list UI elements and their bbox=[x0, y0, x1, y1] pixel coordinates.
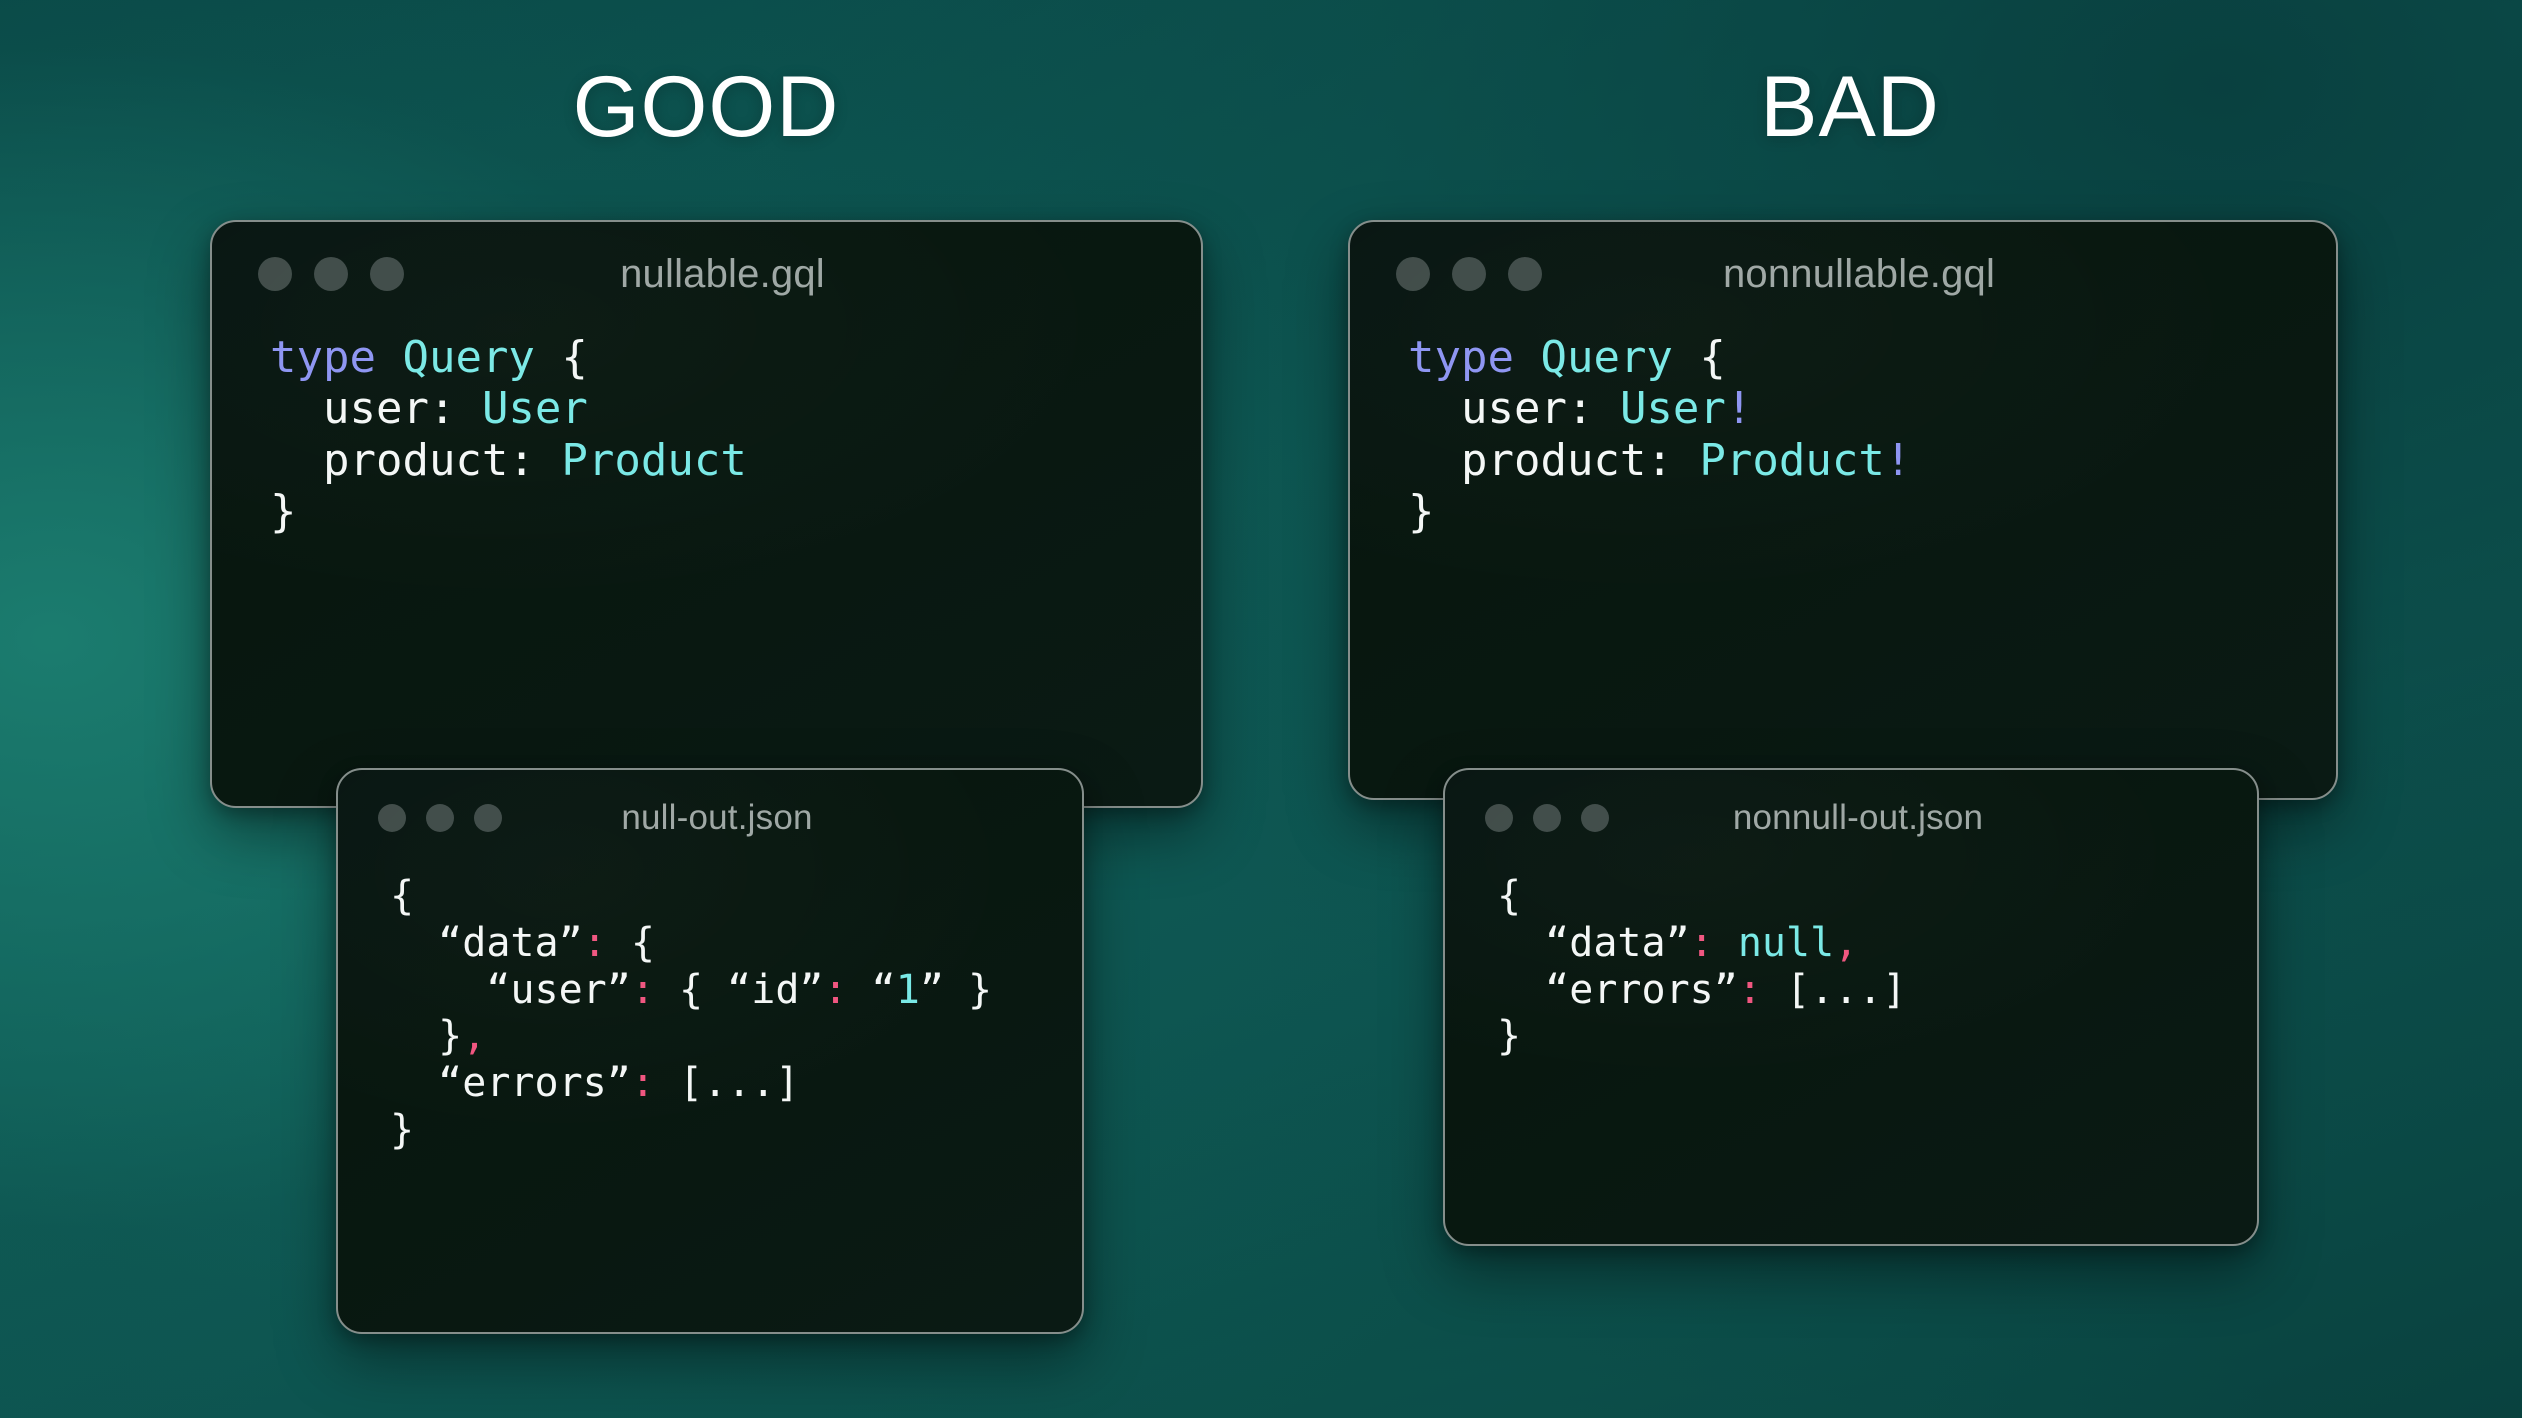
code-token-punc: { bbox=[535, 332, 588, 383]
window-filename: nonnull-out.json bbox=[1609, 798, 2107, 838]
column-heading-bad: BAD bbox=[1760, 64, 1940, 150]
code-token-bang: ! bbox=[1885, 435, 1912, 486]
code-line: “user”: { “id”: “1” } bbox=[390, 966, 1082, 1013]
code-line: { bbox=[390, 872, 1082, 919]
code-window-nullable-gql[interactable]: nullable.gql type Query { user: User pro… bbox=[210, 220, 1203, 808]
code-line: } bbox=[270, 486, 1201, 537]
code-token-str: “user” bbox=[390, 967, 631, 1013]
code-line: “errors”: [...] bbox=[390, 1059, 1082, 1106]
code-line: product: Product! bbox=[1408, 435, 2336, 486]
code-token-colon: : bbox=[824, 967, 848, 1013]
code-line: { bbox=[1497, 872, 2257, 919]
code-token-punc: [...] bbox=[655, 1060, 800, 1106]
maximize-dot-icon[interactable] bbox=[1508, 257, 1542, 291]
code-token-colon: : bbox=[1690, 920, 1714, 966]
code-token-punc: [...] bbox=[1762, 967, 1907, 1013]
code-token-plain bbox=[1514, 332, 1541, 383]
code-token-punc: { bbox=[1673, 332, 1726, 383]
code-token-type: Query bbox=[1540, 332, 1672, 383]
minimize-dot-icon[interactable] bbox=[314, 257, 348, 291]
code-window-nonnullable-gql[interactable]: nonnullable.gql type Query { user: User!… bbox=[1348, 220, 2338, 800]
code-content: type Query { user: User product: Product… bbox=[212, 326, 1201, 538]
window-filename: nonnullable.gql bbox=[1542, 252, 2176, 297]
code-line: “errors”: [...] bbox=[1497, 966, 2257, 1013]
code-window-nonnull-out-json[interactable]: nonnull-out.json { “data”: null, “errors… bbox=[1443, 768, 2259, 1246]
window-titlebar: null-out.json bbox=[338, 770, 1082, 866]
code-token-colon: : bbox=[1738, 967, 1762, 1013]
code-token-plain: : bbox=[429, 383, 482, 434]
close-dot-icon[interactable] bbox=[258, 257, 292, 291]
code-token-type: Query bbox=[402, 332, 534, 383]
code-line: “data”: { bbox=[390, 919, 1082, 966]
code-token-str: “data” bbox=[390, 920, 583, 966]
code-line: user: User bbox=[270, 383, 1201, 434]
code-content: { “data”: null, “errors”: [...]} bbox=[1445, 866, 2257, 1059]
code-token-bang: ! bbox=[1726, 383, 1753, 434]
code-token-punc: { bbox=[1497, 873, 1521, 919]
code-line: type Query { bbox=[270, 332, 1201, 383]
code-token-type: User bbox=[1620, 383, 1726, 434]
code-token-colon: : bbox=[631, 967, 655, 1013]
code-token-colon: : bbox=[631, 1060, 655, 1106]
traffic-lights bbox=[1485, 804, 1609, 832]
code-token-type: Product bbox=[561, 435, 746, 486]
code-token-colon: : bbox=[583, 920, 607, 966]
code-line: “data”: null, bbox=[1497, 919, 2257, 966]
code-token-plain: : bbox=[508, 435, 561, 486]
code-content: type Query { user: User! product: Produc… bbox=[1350, 326, 2336, 538]
code-token-kw: type bbox=[270, 332, 376, 383]
window-filename: null-out.json bbox=[502, 798, 932, 838]
close-dot-icon[interactable] bbox=[378, 804, 406, 832]
code-token-type: Product bbox=[1699, 435, 1884, 486]
code-token-str: “errors” bbox=[1497, 967, 1738, 1013]
code-token-val: 1 bbox=[896, 967, 920, 1013]
code-line: } bbox=[1408, 486, 2336, 537]
code-token-punc: ” } bbox=[920, 967, 992, 1013]
code-token-punc: } bbox=[390, 1107, 414, 1153]
code-token-punc: } bbox=[390, 1013, 462, 1059]
minimize-dot-icon[interactable] bbox=[1452, 257, 1486, 291]
window-titlebar: nullable.gql bbox=[212, 222, 1201, 326]
traffic-lights bbox=[258, 257, 404, 291]
code-token-str: “data” bbox=[1497, 920, 1690, 966]
window-titlebar: nonnull-out.json bbox=[1445, 770, 2257, 866]
close-dot-icon[interactable] bbox=[1396, 257, 1430, 291]
code-token-plain: product bbox=[270, 435, 508, 486]
code-token-punc: { bbox=[607, 920, 655, 966]
code-line: }, bbox=[390, 1012, 1082, 1059]
code-window-null-out-json[interactable]: null-out.json { “data”: { “user”: { “id”… bbox=[336, 768, 1084, 1334]
code-token-kw: type bbox=[1408, 332, 1514, 383]
close-dot-icon[interactable] bbox=[1485, 804, 1513, 832]
minimize-dot-icon[interactable] bbox=[426, 804, 454, 832]
code-token-plain: product bbox=[1408, 435, 1646, 486]
code-token-punc: { “id” bbox=[655, 967, 824, 1013]
code-token-plain: user bbox=[270, 383, 429, 434]
code-token-comma: , bbox=[1834, 920, 1858, 966]
code-line: product: Product bbox=[270, 435, 1201, 486]
code-token-plain bbox=[376, 332, 403, 383]
code-line: user: User! bbox=[1408, 383, 2336, 434]
code-token-plain: : bbox=[1646, 435, 1699, 486]
comparison-figure: GOOD BAD nullable.gql type Query { user:… bbox=[0, 0, 2522, 1418]
code-line: type Query { bbox=[1408, 332, 2336, 383]
code-token-plain: user bbox=[1408, 383, 1567, 434]
maximize-dot-icon[interactable] bbox=[474, 804, 502, 832]
column-heading-good: GOOD bbox=[573, 64, 840, 150]
code-token-punc: } bbox=[270, 486, 297, 537]
code-line: } bbox=[390, 1106, 1082, 1153]
code-token-comma: , bbox=[462, 1013, 486, 1059]
code-token-null: null bbox=[1738, 920, 1834, 966]
code-token-type: User bbox=[482, 383, 588, 434]
code-token-punc: } bbox=[1408, 486, 1435, 537]
code-token-str: “errors” bbox=[390, 1060, 631, 1106]
maximize-dot-icon[interactable] bbox=[1581, 804, 1609, 832]
window-titlebar: nonnullable.gql bbox=[1350, 222, 2336, 326]
minimize-dot-icon[interactable] bbox=[1533, 804, 1561, 832]
code-token-punc bbox=[1714, 920, 1738, 966]
traffic-lights bbox=[378, 804, 502, 832]
traffic-lights bbox=[1396, 257, 1542, 291]
code-token-punc: “ bbox=[848, 967, 896, 1013]
code-token-punc: { bbox=[390, 873, 414, 919]
window-filename: nullable.gql bbox=[404, 252, 1041, 297]
code-content: { “data”: { “user”: { “id”: “1” } }, “er… bbox=[338, 866, 1082, 1153]
code-token-plain: : bbox=[1567, 383, 1620, 434]
code-line: } bbox=[1497, 1012, 2257, 1059]
maximize-dot-icon[interactable] bbox=[370, 257, 404, 291]
code-token-punc: } bbox=[1497, 1013, 1521, 1059]
